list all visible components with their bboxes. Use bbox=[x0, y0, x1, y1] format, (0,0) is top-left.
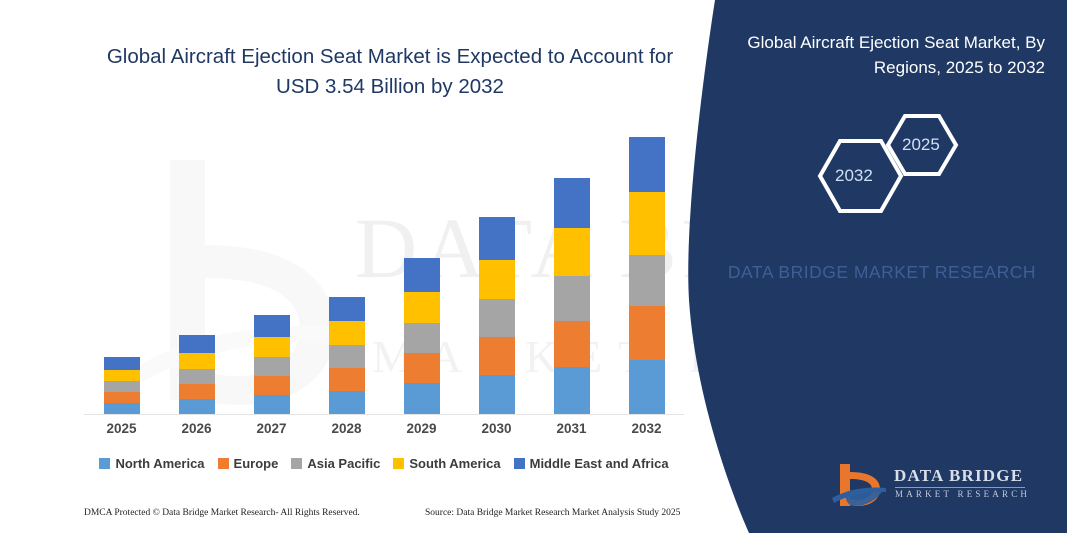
bar-segment[interactable] bbox=[554, 321, 590, 367]
hexagon-group: 2025 2032 bbox=[787, 108, 1027, 218]
bar-segment[interactable] bbox=[254, 395, 290, 415]
bar-segment[interactable] bbox=[254, 376, 290, 395]
x-axis-tick-label: 2027 bbox=[237, 421, 307, 436]
bar-segment[interactable] bbox=[479, 217, 515, 260]
logo-primary-text: DATA BRIDGE bbox=[894, 466, 1023, 486]
legend-item[interactable]: Middle East and Africa bbox=[514, 456, 669, 471]
bar-segment[interactable] bbox=[104, 370, 140, 381]
legend-item[interactable]: North America bbox=[99, 456, 204, 471]
x-axis-tick-label: 2030 bbox=[462, 421, 532, 436]
brand-panel: Global Aircraft Ejection Seat Market, By… bbox=[687, 0, 1067, 533]
bar-segment[interactable] bbox=[404, 383, 440, 415]
bar-segment[interactable] bbox=[179, 369, 215, 384]
bar-segment[interactable] bbox=[254, 357, 290, 376]
bar-segment[interactable] bbox=[554, 228, 590, 276]
bar-segment[interactable] bbox=[554, 276, 590, 321]
bar-segment[interactable] bbox=[179, 335, 215, 353]
bar-segment[interactable] bbox=[629, 192, 665, 255]
bar-segment[interactable] bbox=[329, 391, 365, 415]
bar-segment[interactable] bbox=[404, 323, 440, 353]
hexagon-shapes-icon bbox=[787, 108, 1027, 218]
legend-item[interactable]: South America bbox=[393, 456, 500, 471]
bar-column[interactable] bbox=[404, 258, 440, 415]
brand-text: DATA BRIDGE MARKET RESEARCH bbox=[727, 260, 1037, 285]
bar-segment[interactable] bbox=[404, 353, 440, 383]
footer-copyright: DMCA Protected © Data Bridge Market Rese… bbox=[84, 508, 360, 518]
bar-segment[interactable] bbox=[404, 258, 440, 292]
legend-item[interactable]: Asia Pacific bbox=[291, 456, 380, 471]
bar-segment[interactable] bbox=[329, 368, 365, 391]
stacked-bar-chart bbox=[84, 120, 684, 415]
legend-label: Europe bbox=[234, 456, 279, 471]
chart-legend: North AmericaEuropeAsia PacificSouth Ame… bbox=[84, 456, 684, 471]
legend-item[interactable]: Europe bbox=[218, 456, 279, 471]
bar-segment[interactable] bbox=[629, 255, 665, 306]
legend-swatch-icon bbox=[393, 458, 404, 469]
legend-label: Asia Pacific bbox=[307, 456, 380, 471]
hexagon-label-2032: 2032 bbox=[835, 166, 873, 186]
footer: DMCA Protected © Data Bridge Market Rese… bbox=[84, 508, 684, 524]
bar-segment[interactable] bbox=[479, 375, 515, 415]
bar-segment[interactable] bbox=[479, 337, 515, 375]
bar-segment[interactable] bbox=[179, 384, 215, 399]
logo-secondary-text: MARKET RESEARCH bbox=[895, 489, 1030, 499]
legend-label: South America bbox=[409, 456, 500, 471]
footer-source: Source: Data Bridge Market Research Mark… bbox=[425, 508, 680, 518]
infographic-canvas: DATA BRIDGE MARKET RESEARCH Global Aircr… bbox=[0, 0, 1067, 533]
chart-title: Global Aircraft Ejection Seat Market is … bbox=[95, 42, 685, 102]
bar-segment[interactable] bbox=[629, 306, 665, 360]
bar-segment[interactable] bbox=[329, 297, 365, 321]
bar-column[interactable] bbox=[254, 315, 290, 415]
brand-logo: DATA BRIDGE MARKET RESEARCH bbox=[832, 462, 1042, 510]
bar-segment[interactable] bbox=[554, 367, 590, 415]
panel-title: Global Aircraft Ejection Seat Market, By… bbox=[715, 30, 1045, 80]
legend-swatch-icon bbox=[514, 458, 525, 469]
bar-column[interactable] bbox=[329, 297, 365, 415]
bar-segment[interactable] bbox=[329, 345, 365, 368]
bar-segment[interactable] bbox=[179, 353, 215, 369]
bar-segment[interactable] bbox=[104, 381, 140, 392]
x-axis-labels: 20252026202720282029203020312032 bbox=[84, 421, 684, 443]
logo-divider bbox=[895, 487, 1025, 488]
legend-swatch-icon bbox=[291, 458, 302, 469]
bar-segment[interactable] bbox=[179, 399, 215, 415]
bar-segment[interactable] bbox=[104, 392, 140, 403]
x-axis-tick-label: 2032 bbox=[612, 421, 682, 436]
legend-label: North America bbox=[115, 456, 204, 471]
bar-column[interactable] bbox=[179, 335, 215, 415]
bar-segment[interactable] bbox=[254, 315, 290, 337]
bar-column[interactable] bbox=[629, 137, 665, 415]
x-axis-tick-label: 2025 bbox=[87, 421, 157, 436]
bar-segment[interactable] bbox=[629, 360, 665, 415]
legend-swatch-icon bbox=[99, 458, 110, 469]
x-axis-line bbox=[84, 414, 684, 415]
databridge-logo-icon bbox=[832, 462, 890, 508]
bar-segment[interactable] bbox=[404, 292, 440, 323]
bar-column[interactable] bbox=[554, 178, 590, 415]
bar-segment[interactable] bbox=[254, 337, 290, 357]
bar-column[interactable] bbox=[104, 357, 140, 415]
bar-segment[interactable] bbox=[329, 321, 365, 345]
bar-segment[interactable] bbox=[104, 357, 140, 370]
x-axis-tick-label: 2029 bbox=[387, 421, 457, 436]
bar-segment[interactable] bbox=[479, 299, 515, 337]
bar-segment[interactable] bbox=[479, 260, 515, 299]
x-axis-tick-label: 2028 bbox=[312, 421, 382, 436]
bar-segment[interactable] bbox=[554, 178, 590, 228]
legend-label: Middle East and Africa bbox=[530, 456, 669, 471]
legend-swatch-icon bbox=[218, 458, 229, 469]
hexagon-label-2025: 2025 bbox=[902, 135, 940, 155]
bar-column[interactable] bbox=[479, 217, 515, 415]
x-axis-tick-label: 2026 bbox=[162, 421, 232, 436]
x-axis-tick-label: 2031 bbox=[537, 421, 607, 436]
bar-segment[interactable] bbox=[629, 137, 665, 192]
